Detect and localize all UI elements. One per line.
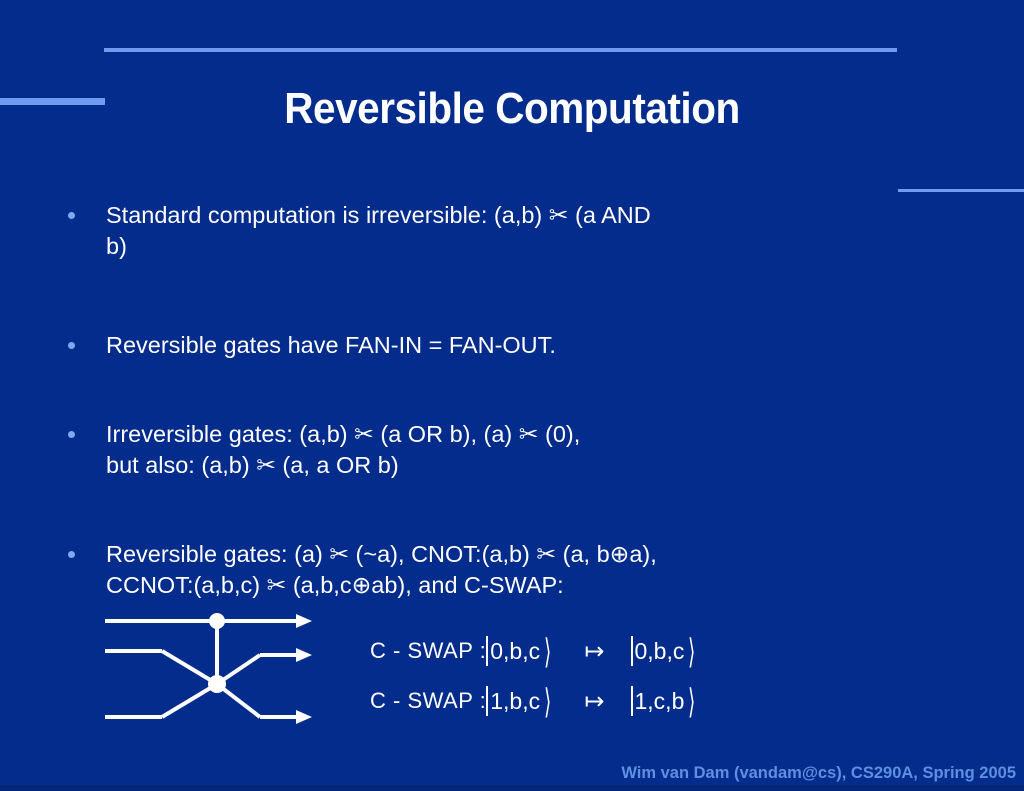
bullet-line: b) [106,231,912,262]
arrowhead-top [296,614,312,628]
slide-title: Reversible Computation [41,84,983,134]
bullet-item-3: Reversible gates: (a) ✂ (~a), CNOT:(a,b)… [62,539,912,601]
bullet-line: but also: (a,b) ✂ (a, a OR b) [106,450,912,481]
ket-value: 0,b,c [635,638,685,665]
ket-bar-icon [631,636,633,666]
bullet-line: Reversible gates have FAN-IN = FAN-OUT. [106,330,912,361]
ket-value: 1,b,c [490,688,540,715]
c-swap-equations: C - SWAP : 0,b,c ⟩ ↦ 0,b,c ⟩ C - SWAP : … [370,626,699,726]
ket-bar-icon [631,686,633,716]
equation-input-ket: 0,b,c ⟩ [486,636,554,666]
wire-b-cross [162,651,217,684]
c-swap-circuit-diagram [100,604,315,732]
arrowheads [296,614,312,724]
wire-c-cross [162,684,217,717]
arrowhead-middle [296,648,312,662]
swap-node [208,675,226,693]
ket-bar-icon [486,686,488,716]
bullet-dot-icon [68,431,75,438]
bullet-list: Standard computation is irreversible: (a… [62,200,912,601]
bullet-item-2: Irreversible gates: (a,b) ✂ (a OR b), (a… [62,419,912,481]
bullet-line: Standard computation is irreversible: (a… [106,200,912,231]
equation-maps-to-icon: ↦ [584,687,604,716]
bottom-band [0,785,1024,791]
bullet-line: Irreversible gates: (a,b) ✂ (a OR b), (a… [106,419,912,450]
equation-output-ket: 0,b,c ⟩ [631,636,699,666]
equation-maps-to-icon: ↦ [584,637,604,666]
control-node [209,613,225,629]
equation-label: C - SWAP : [370,638,486,664]
equation-output-ket: 1,c,b ⟩ [631,686,699,716]
bullet-dot-icon [68,551,75,558]
bullet-item-0: Standard computation is irreversible: (a… [62,200,912,262]
bullet-line: CCNOT:(a,b,c) ✂ (a,b,c⊕ab), and C-SWAP: [106,570,912,601]
slide-footer: Wim van Dam (vandam@cs), CS290A, Spring … [621,764,1016,783]
slide-canvas: Reversible Computation Standard computat… [0,0,1024,791]
equation-input-ket: 1,b,c ⟩ [486,686,554,716]
ket-value: 0,b,c [490,638,540,665]
ket-bar-icon [486,636,488,666]
decorative-rule-right [898,189,1024,192]
equation-label: C - SWAP : [370,688,486,714]
decorative-rule-top [104,48,897,52]
bullet-dot-icon [68,212,75,219]
equation-row-1: C - SWAP : 1,b,c ⟩ ↦ 1,c,b ⟩ [370,676,699,726]
bullet-line: Reversible gates: (a) ✂ (~a), CNOT:(a,b)… [106,539,912,570]
arrowhead-bottom [296,710,312,724]
equation-row-0: C - SWAP : 0,b,c ⟩ ↦ 0,b,c ⟩ [370,626,699,676]
bullet-dot-icon [68,342,75,349]
ket-value: 1,c,b [635,688,685,715]
bullet-item-1: Reversible gates have FAN-IN = FAN-OUT. [62,330,912,361]
